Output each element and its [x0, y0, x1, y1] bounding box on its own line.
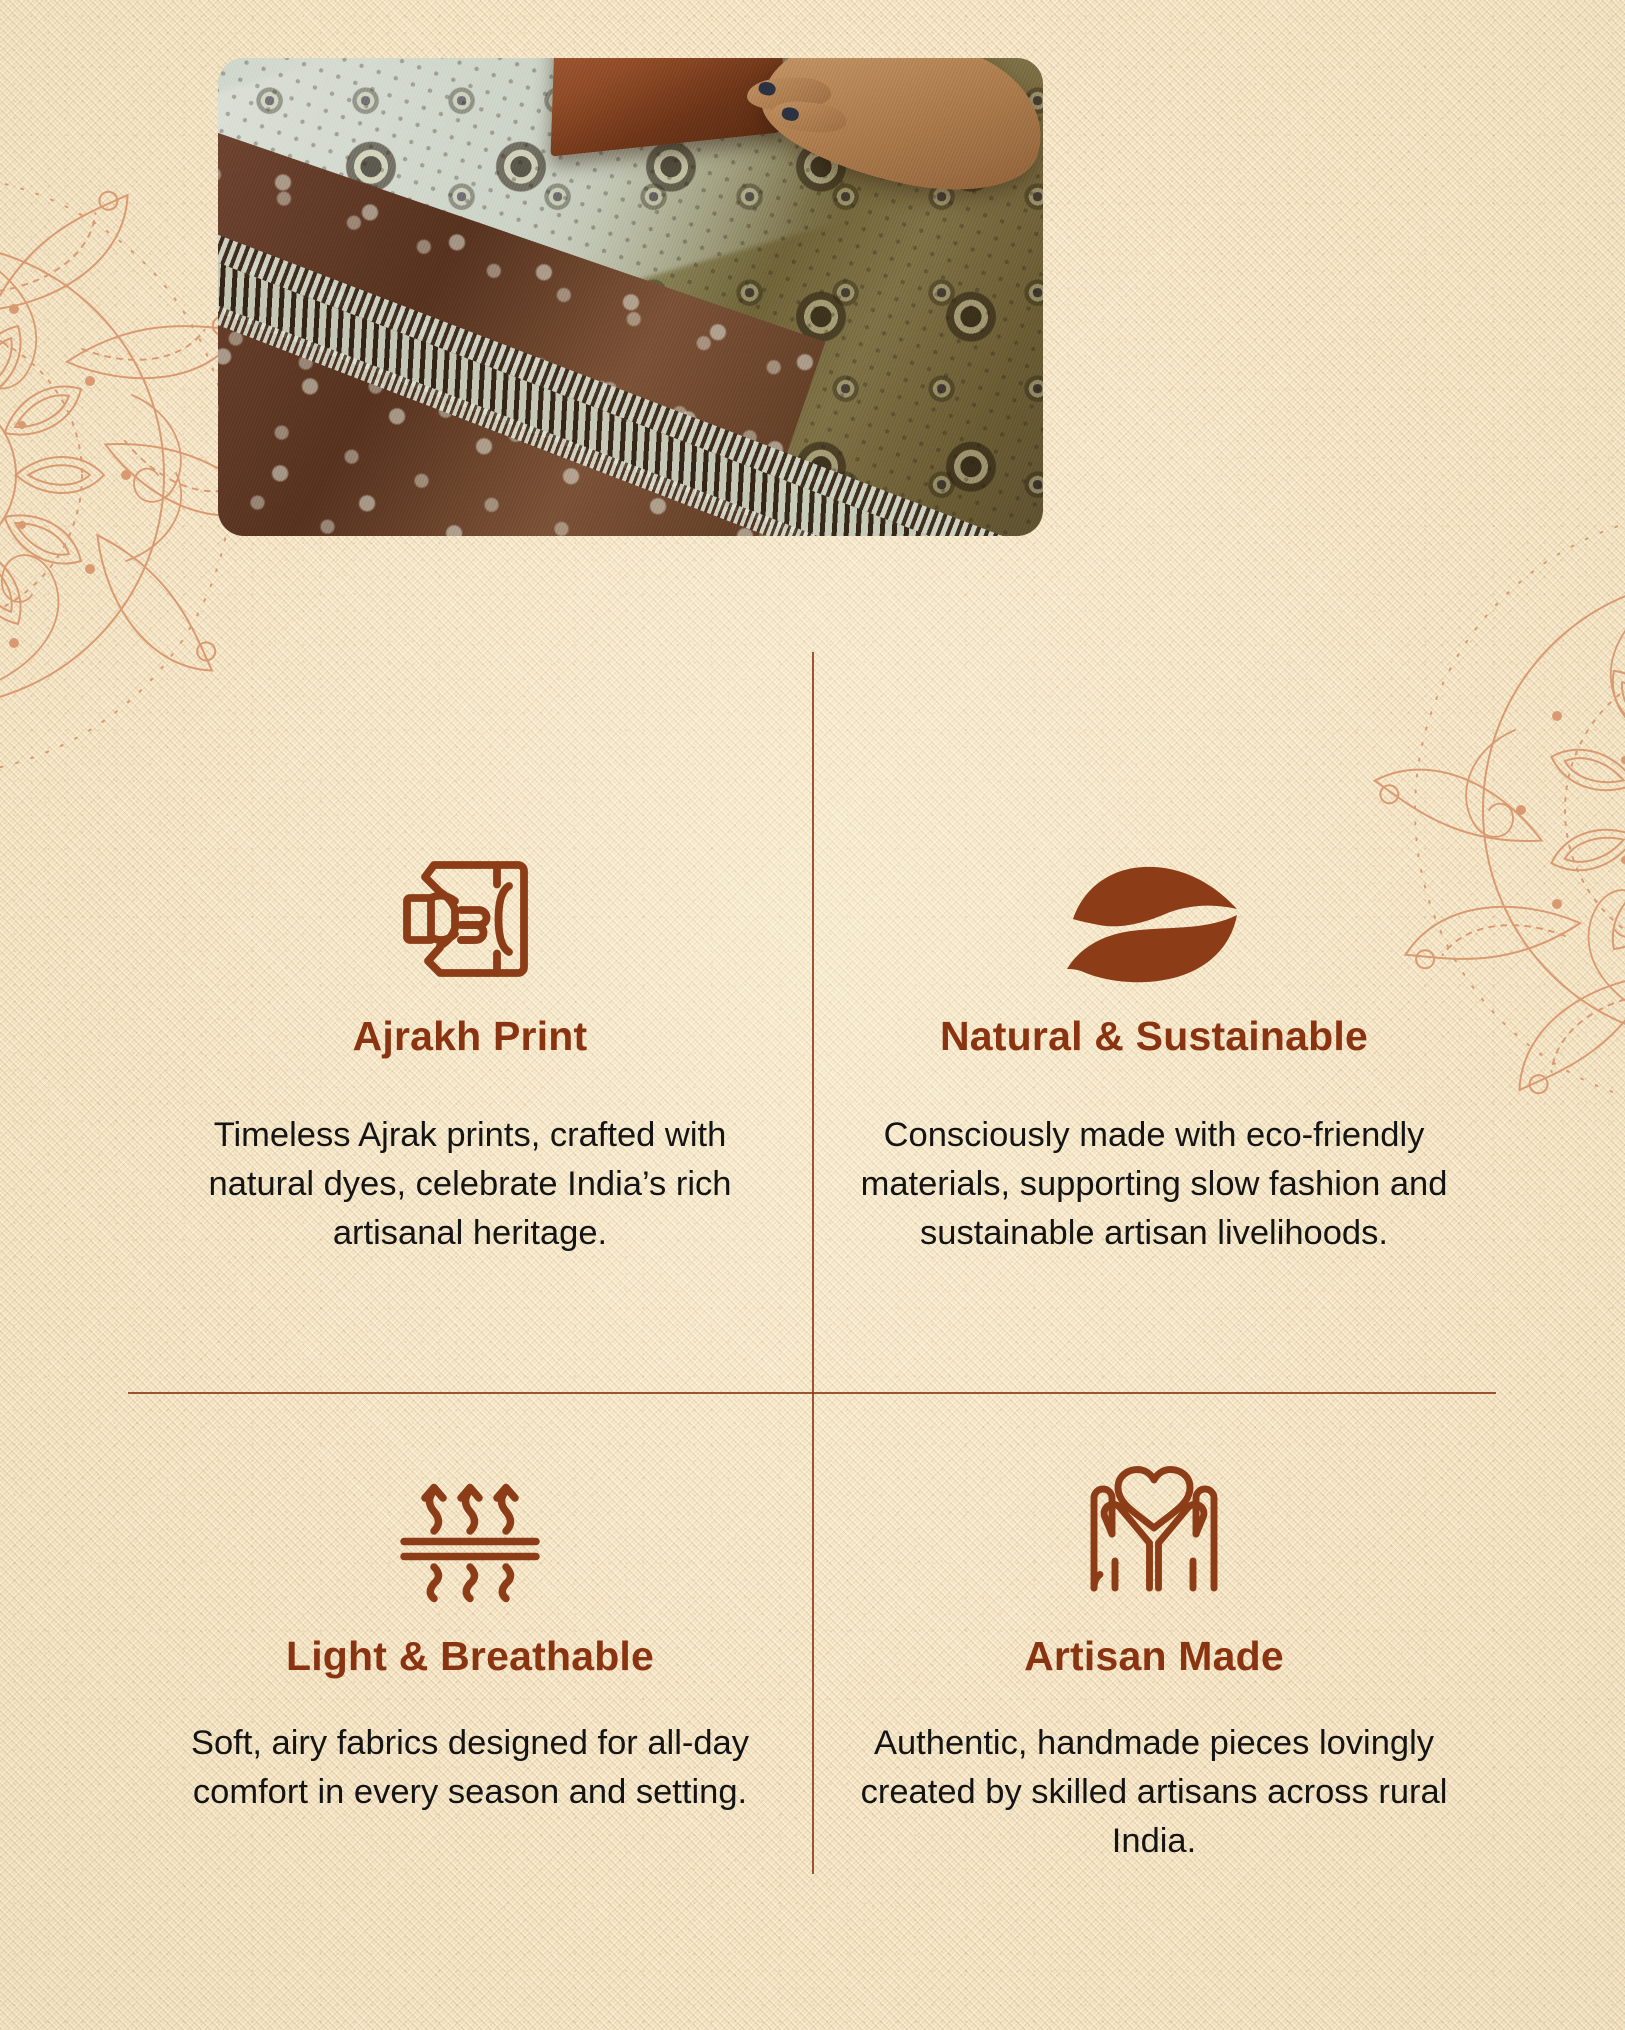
feature-card-artisan-made: Artisan Made Authentic, handmade pieces … — [812, 1392, 1496, 1880]
feature-title: Ajrakh Print — [353, 1016, 588, 1057]
feature-title: Light & Breathable — [286, 1636, 654, 1677]
feature-title: Artisan Made — [1024, 1636, 1284, 1677]
feature-grid: Ajrakh Print Timeless Ajrak prints, craf… — [128, 830, 1496, 1880]
leaf-icon — [1065, 830, 1243, 1008]
feature-description: Consciously made with eco-friendly mater… — [846, 1111, 1462, 1258]
feature-card-light-breathable: Light & Breathable Soft, airy fabrics de… — [128, 1392, 812, 1880]
feature-description: Soft, airy fabrics designed for all-day … — [180, 1719, 760, 1817]
feature-description: Authentic, handmade pieces lovingly crea… — [846, 1719, 1462, 1866]
hands-holding-heart-icon — [1079, 1442, 1229, 1620]
ajrak-block-printing-photo — [218, 58, 1043, 536]
feature-description: Timeless Ajrak prints, crafted with natu… — [162, 1111, 778, 1258]
feature-card-ajrakh-print: Ajrakh Print Timeless Ajrak prints, craf… — [128, 830, 812, 1392]
infographic-page: Ajrakh Print Timeless Ajrak prints, craf… — [0, 0, 1625, 2030]
feature-card-natural-sustainable: Natural & Sustainable Consciously made w… — [812, 830, 1496, 1392]
feature-title: Natural & Sustainable — [940, 1016, 1368, 1057]
hand-holding-printing-block-icon — [395, 830, 545, 1008]
horizontal-divider — [128, 1392, 1496, 1394]
breathable-airflow-arrows-icon — [395, 1442, 545, 1620]
vertical-divider — [812, 652, 814, 1874]
